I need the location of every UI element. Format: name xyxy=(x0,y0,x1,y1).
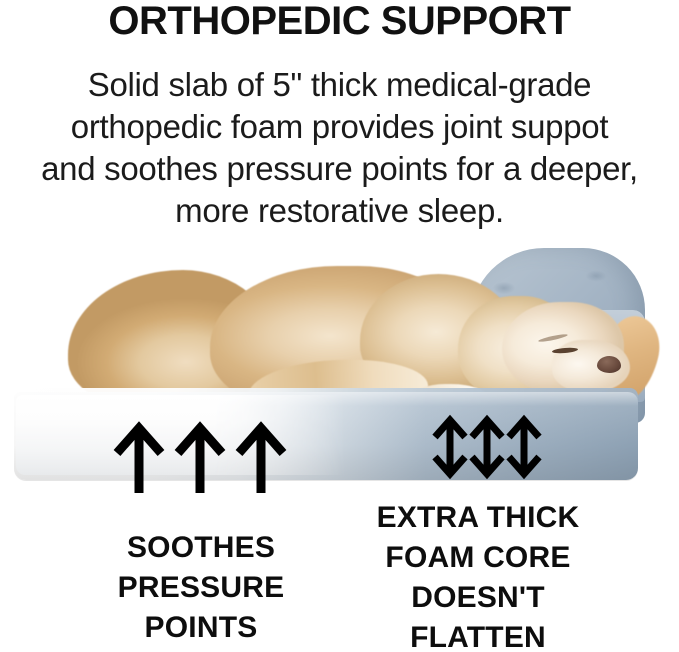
description-paragraph: Solid slab of 5" thick medical-grade ort… xyxy=(8,64,671,232)
caption-left-line-2: PRESSURE xyxy=(70,568,332,608)
description-line-2: orthopedic foam provides joint suppot xyxy=(8,106,671,148)
caption-soothes-pressure-points: SOOTHES PRESSURE POINTS xyxy=(70,528,332,648)
bed-white-foam-slab xyxy=(16,395,346,475)
description-line-4: more restorative sleep. xyxy=(8,190,671,232)
infographic-page: ORTHOPEDIC SUPPORT Solid slab of 5" thic… xyxy=(0,0,679,652)
caption-right-line-1: EXTRA THICK xyxy=(350,498,606,538)
product-photo xyxy=(0,240,679,485)
page-title: ORTHOPEDIC SUPPORT xyxy=(0,0,679,42)
caption-left-line-3: POINTS xyxy=(70,608,332,648)
description-line-3: and soothes pressure points for a deeper… xyxy=(8,148,671,190)
dog-nose xyxy=(597,356,621,373)
description-line-1: Solid slab of 5" thick medical-grade xyxy=(8,64,671,106)
caption-extra-thick-foam-core: EXTRA THICK FOAM CORE DOESN'T FLATTEN xyxy=(350,498,606,652)
caption-right-line-4: FLATTEN xyxy=(350,618,606,652)
caption-right-line-2: FOAM CORE xyxy=(350,538,606,578)
caption-left-line-1: SOOTHES xyxy=(70,528,332,568)
caption-right-line-3: DOESN'T xyxy=(350,578,606,618)
